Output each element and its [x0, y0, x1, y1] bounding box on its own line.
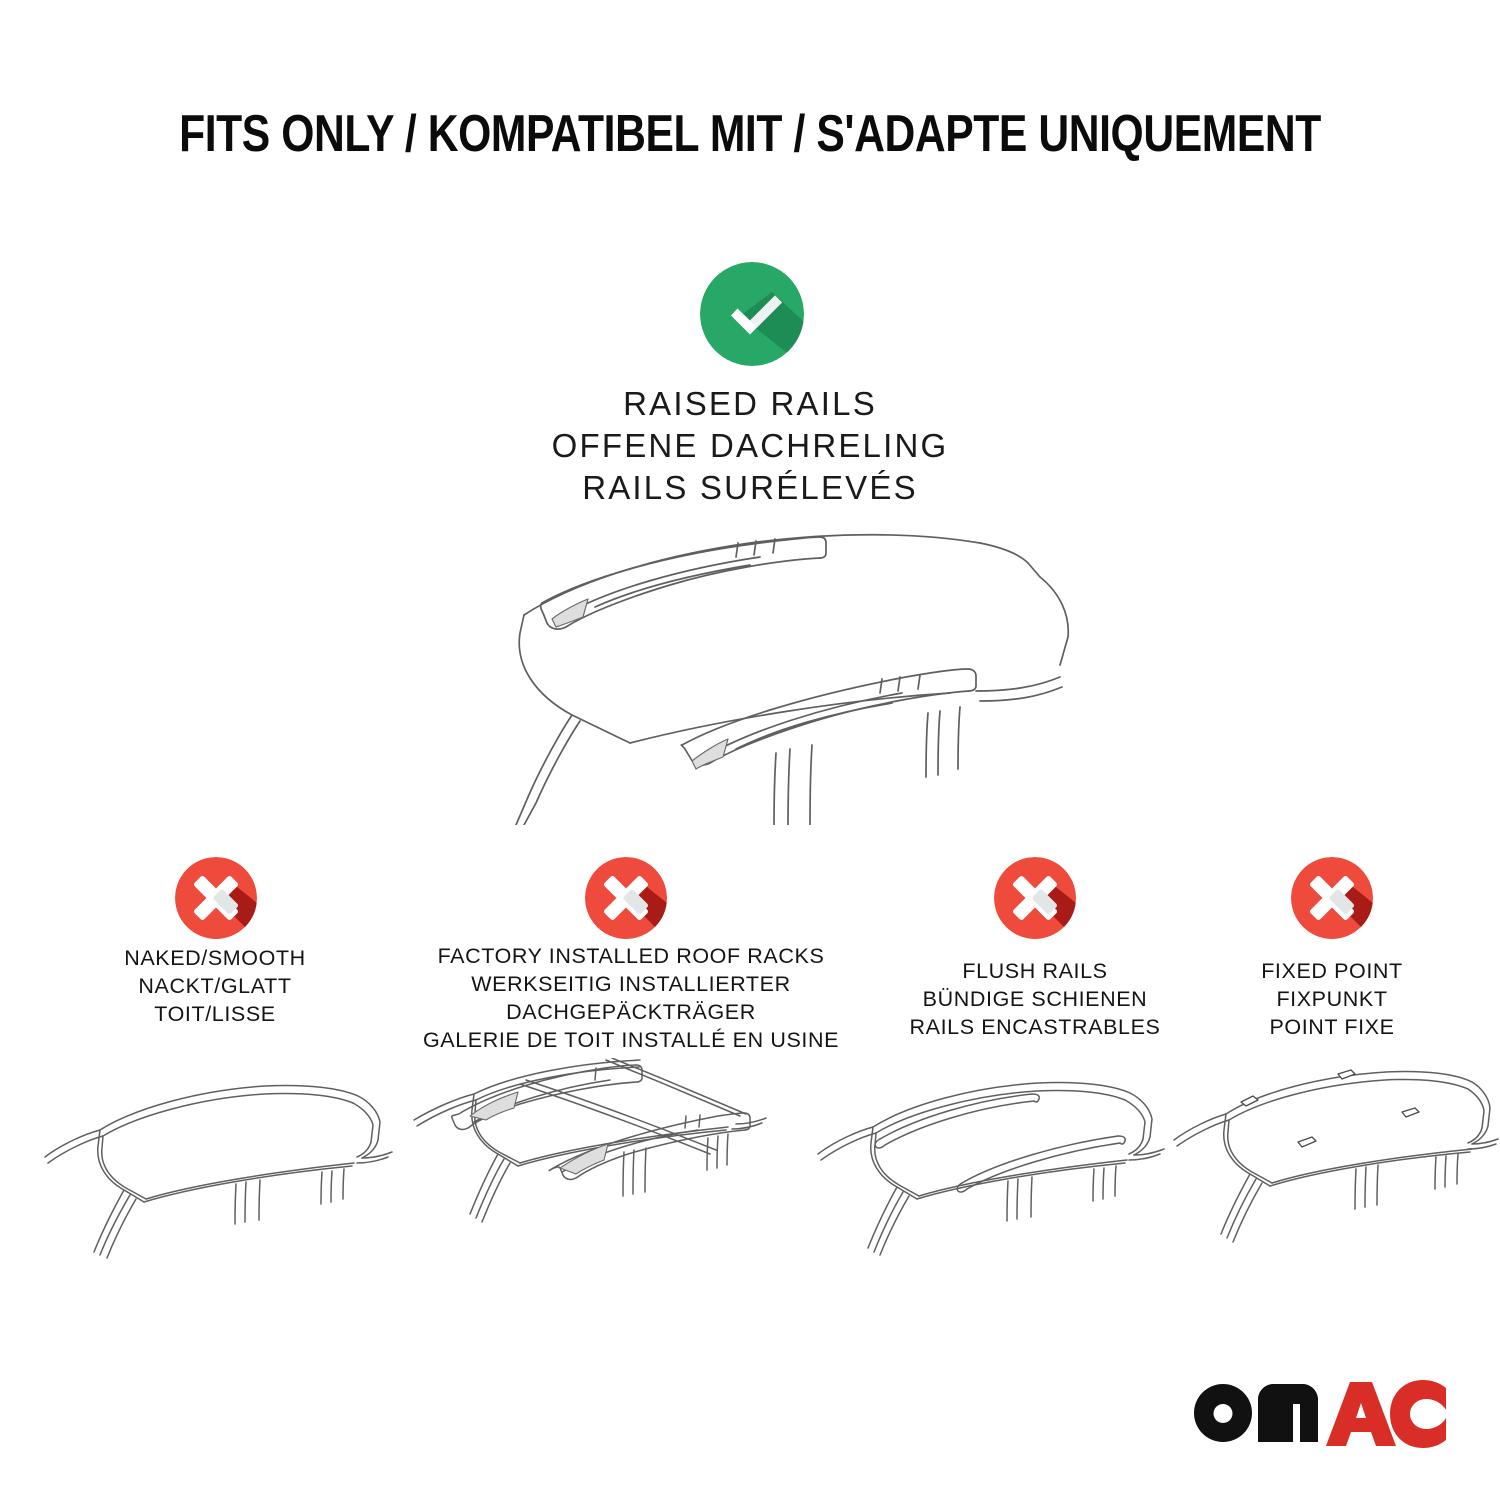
incompatible-label-3-line-3: RAILS ENCASTRABLES [860, 1014, 1210, 1042]
incompatible-label-3: FLUSH RAILS BÜNDIGE SCHIENEN RAILS ENCAS… [860, 958, 1210, 1042]
incompatible-label-1-line-1: NAKED/SMOOTH [20, 945, 410, 973]
fitment-infographic: FITS ONLY / KOMPATIBEL MIT / S'ADAPTE UN… [0, 0, 1500, 1500]
compatible-label-line-2: OFFENE DACHRELING [0, 425, 1500, 467]
incompatible-label-4-line-3: POINT FIXE [1182, 1014, 1482, 1042]
compatible-label-line-3: RAILS SURÉLEVÉS [0, 467, 1500, 509]
incompatible-label-2-line-1: FACTORY INSTALLED ROOF RACKS [406, 943, 856, 971]
incompatible-label-1-line-3: TOIT/LISSE [20, 1001, 410, 1029]
car-roof-fixed-point-illustration [1160, 1062, 1500, 1292]
incompatible-label-3-line-2: BÜNDIGE SCHIENEN [860, 986, 1210, 1014]
incompatible-label-1: NAKED/SMOOTH NACKT/GLATT TOIT/LISSE [20, 945, 410, 1029]
compatible-label: RAISED RAILS OFFENE DACHRELING RAILS SUR… [0, 383, 1500, 509]
omac-logo [1190, 1378, 1448, 1452]
car-roof-raised-rails-illustration [420, 515, 1080, 825]
incompatible-label-2-line-3: DACHGEPÄCKTRÄGER [406, 999, 856, 1027]
x-circle-icon [585, 857, 667, 939]
x-circle-icon [175, 857, 257, 939]
incompatible-label-4-line-1: FIXED POINT [1182, 958, 1482, 986]
car-roof-flush-rails-illustration [810, 1062, 1170, 1292]
x-circle-icon [1291, 857, 1373, 939]
compatible-label-line-1: RAISED RAILS [0, 383, 1500, 425]
x-circle-icon [994, 857, 1076, 939]
car-roof-naked-illustration [40, 1062, 400, 1292]
check-circle-icon [700, 262, 804, 366]
incompatible-label-2-line-2: WERKSEITIG INSTALLIERTER [406, 971, 856, 999]
incompatible-label-2-line-4: GALERIE DE TOIT INSTALLÉ EN USINE [406, 1027, 856, 1055]
incompatible-label-4-line-2: FIXPUNKT [1182, 986, 1482, 1014]
incompatible-label-4: FIXED POINT FIXPUNKT POINT FIXE [1182, 958, 1482, 1042]
incompatible-label-2: FACTORY INSTALLED ROOF RACKS WERKSEITIG … [406, 943, 856, 1055]
car-roof-factory-racks-illustration [400, 1058, 770, 1293]
incompatible-label-1-line-2: NACKT/GLATT [20, 973, 410, 1001]
incompatible-label-3-line-1: FLUSH RAILS [860, 958, 1210, 986]
page-title: FITS ONLY / KOMPATIBEL MIT / S'ADAPTE UN… [135, 104, 1365, 164]
